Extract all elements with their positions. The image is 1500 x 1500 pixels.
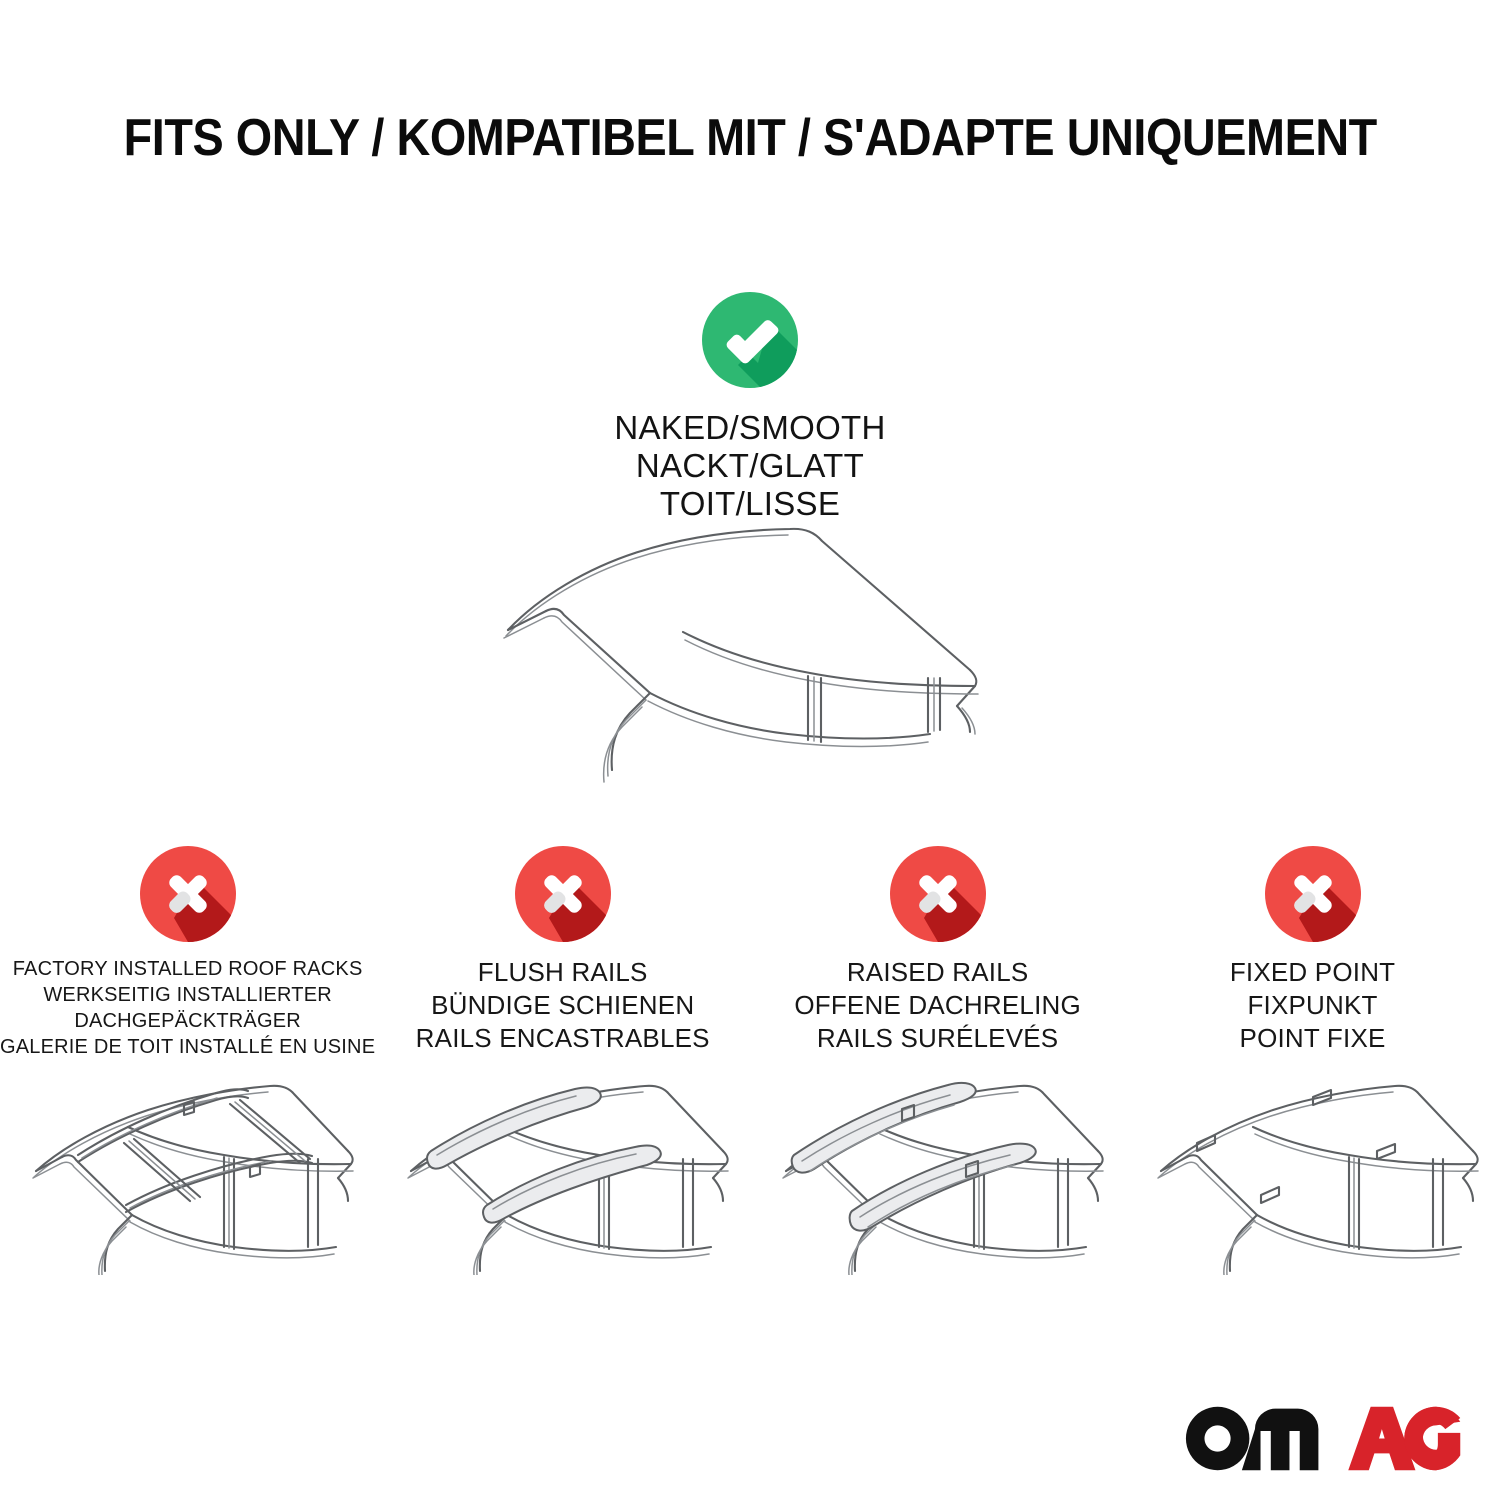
not-fits-item-flush-rails: FLUSH RAILS BÜNDIGE SCHIENEN RAILS ENCAS…	[375, 846, 750, 1060]
fits-label-de: NACKT/GLATT	[450, 447, 1050, 485]
naked-smooth-roof-illustration	[470, 518, 1050, 788]
cross-circle-icon	[515, 846, 611, 942]
cross-circle-icon	[890, 846, 986, 942]
not-fits-label: RAISED RAILS OFFENE DACHRELING RAILS SUR…	[794, 956, 1081, 1055]
not-fits-label: FACTORY INSTALLED ROOF RACKS WERKSEITIG …	[0, 956, 375, 1060]
not-fits-section: FACTORY INSTALLED ROOF RACKS WERKSEITIG …	[0, 846, 1500, 1060]
cross-mark-glyph	[515, 846, 611, 942]
label-line-de-1: BÜNDIGE SCHIENEN	[416, 989, 710, 1022]
illustration-row	[0, 1055, 1500, 1285]
label-line-en: FLUSH RAILS	[416, 956, 710, 989]
not-fits-item-factory-racks: FACTORY INSTALLED ROOF RACKS WERKSEITIG …	[0, 846, 375, 1060]
page-title: FITS ONLY / KOMPATIBEL MIT / S'ADAPTE UN…	[123, 108, 1376, 168]
fits-label: NAKED/SMOOTH NACKT/GLATT TOIT/LISSE	[450, 409, 1050, 523]
label-line-de-1: FIXPUNKT	[1230, 989, 1395, 1022]
cross-circle-icon	[140, 846, 236, 942]
label-line-en: FACTORY INSTALLED ROOF RACKS	[0, 956, 375, 982]
cross-circle-icon	[1265, 846, 1361, 942]
label-line-fr: POINT FIXE	[1230, 1022, 1395, 1055]
header: FITS ONLY / KOMPATIBEL MIT / S'ADAPTE UN…	[0, 108, 1500, 168]
cross-mark-glyph	[890, 846, 986, 942]
label-line-de-1: OFFENE DACHRELING	[794, 989, 1081, 1022]
not-fits-item-raised-rails: RAISED RAILS OFFENE DACHRELING RAILS SUR…	[750, 846, 1125, 1060]
fits-section: NAKED/SMOOTH NACKT/GLATT TOIT/LISSE	[450, 292, 1050, 523]
label-line-fr: RAILS SURÉLEVÉS	[794, 1022, 1081, 1055]
not-fits-label: FIXED POINT FIXPUNKT POINT FIXE	[1230, 956, 1395, 1055]
factory-roof-rack-illustration	[0, 1055, 375, 1285]
label-line-de-2: DACHGEPÄCKTRÄGER	[0, 1008, 375, 1034]
raised-rails-illustration	[750, 1055, 1125, 1285]
label-line-en: FIXED POINT	[1230, 956, 1395, 989]
omac-logo	[1184, 1398, 1464, 1476]
check-mark-glyph	[702, 292, 798, 388]
cross-mark-glyph	[1265, 846, 1361, 942]
fixed-point-illustration	[1125, 1055, 1500, 1285]
cross-mark-glyph	[140, 846, 236, 942]
not-fits-item-fixed-point: FIXED POINT FIXPUNKT POINT FIXE	[1125, 846, 1500, 1060]
fits-label-en: NAKED/SMOOTH	[450, 409, 1050, 447]
flush-rails-illustration	[375, 1055, 750, 1285]
label-line-en: RAISED RAILS	[794, 956, 1081, 989]
not-fits-label: FLUSH RAILS BÜNDIGE SCHIENEN RAILS ENCAS…	[416, 956, 710, 1055]
check-circle-icon	[702, 292, 798, 388]
label-line-fr: RAILS ENCASTRABLES	[416, 1022, 710, 1055]
label-line-de-1: WERKSEITIG INSTALLIERTER	[0, 982, 375, 1008]
